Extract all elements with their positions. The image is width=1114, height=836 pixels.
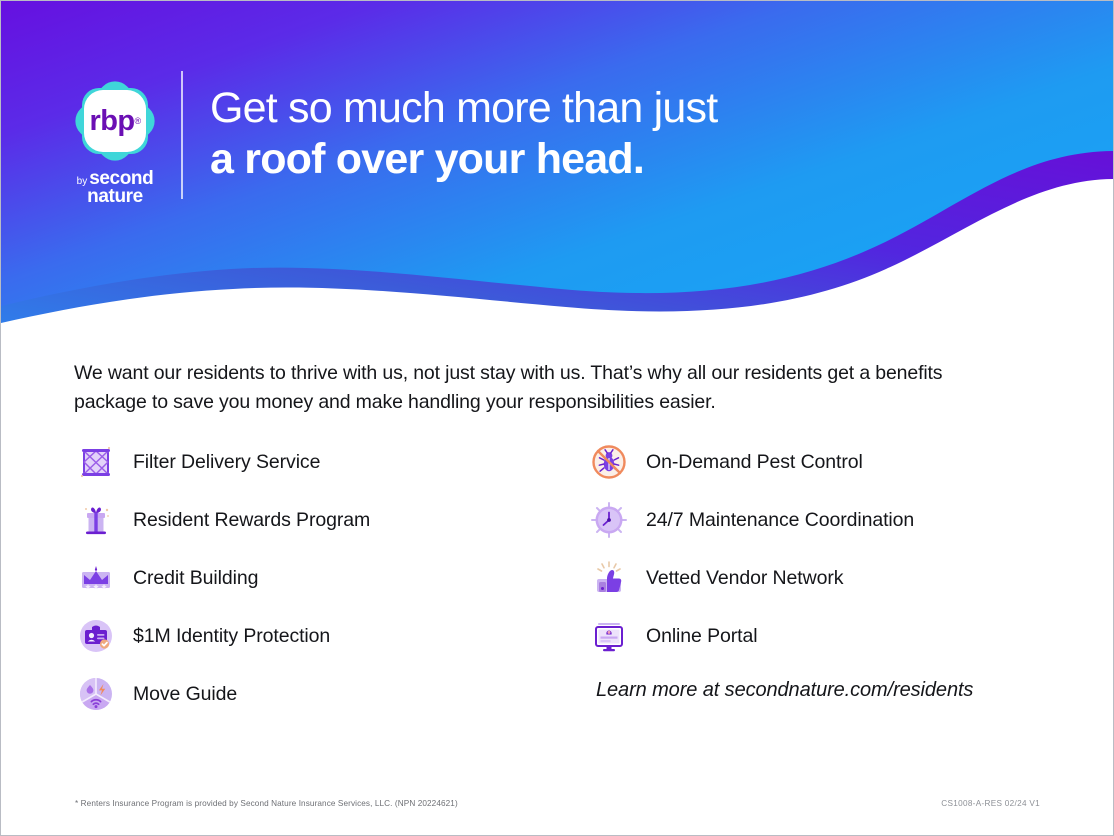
logo-wordmark: rbp® bbox=[67, 73, 163, 169]
document-code: CS1008-A-RES 02/24 V1 bbox=[941, 799, 1040, 808]
benefit-label: On-Demand Pest Control bbox=[646, 451, 863, 474]
learn-more-text: Learn more at secondnature.com/residents bbox=[596, 679, 973, 702]
benefit-label: Filter Delivery Service bbox=[133, 451, 320, 474]
benefit-maintenance-coordination: 24/7 Maintenance Coordination bbox=[587, 491, 1057, 549]
footnote-disclaimer: * Renters Insurance Program is provided … bbox=[75, 799, 458, 808]
benefit-on-demand-pest-control: On-Demand Pest Control bbox=[587, 433, 1057, 491]
benefit-label: Credit Building bbox=[133, 567, 258, 590]
benefit-label: Move Guide bbox=[133, 683, 237, 706]
benefit-label: Online Portal bbox=[646, 625, 757, 648]
benefit-online-portal: Online Portal bbox=[587, 607, 1057, 665]
benefit-label: $1M Identity Protection bbox=[133, 625, 330, 648]
benefit-label: Vetted Vendor Network bbox=[646, 567, 843, 590]
headline-line-1: Get so much more than just bbox=[210, 83, 717, 134]
clock-icon bbox=[587, 498, 631, 542]
air-filter-icon bbox=[74, 440, 118, 484]
monitor-portal-icon bbox=[587, 614, 631, 658]
benefits-left-column: Filter Delivery Service bbox=[74, 433, 554, 723]
logo-byline: bysecond nature bbox=[65, 170, 165, 206]
benefit-label: Resident Rewards Program bbox=[133, 509, 370, 532]
gift-box-icon bbox=[74, 498, 118, 542]
benefit-identity-protection: $1M Identity Protection bbox=[74, 607, 554, 665]
rbp-logo: rbp® bysecond nature bbox=[65, 73, 165, 206]
benefit-filter-delivery-service: Filter Delivery Service bbox=[74, 433, 554, 491]
utilities-circle-icon bbox=[74, 672, 118, 716]
logo-company-line2: nature bbox=[65, 188, 165, 206]
logo-by-label: by bbox=[77, 176, 88, 188]
rbp-logo-mark: rbp® bbox=[67, 73, 163, 169]
headline-line-2: a roof over your head. bbox=[210, 134, 717, 185]
flyer-page: rbp® bysecond nature Get so much more th… bbox=[0, 0, 1114, 836]
hero-banner: rbp® bysecond nature Get so much more th… bbox=[1, 1, 1114, 331]
benefit-credit-building: Credit Building bbox=[74, 549, 554, 607]
benefits-right-column: On-Demand Pest Control bbox=[587, 433, 1057, 665]
benefit-vetted-vendor-network: Vetted Vendor Network bbox=[587, 549, 1057, 607]
logo-divider bbox=[181, 71, 183, 199]
intro-paragraph: We want our residents to thrive with us,… bbox=[74, 359, 1019, 417]
logo-rbp-label: rbp bbox=[90, 105, 135, 138]
crown-stars-icon bbox=[74, 556, 118, 600]
id-badge-shield-icon bbox=[74, 614, 118, 658]
hero-headline: Get so much more than just a roof over y… bbox=[210, 83, 717, 185]
benefit-label: 24/7 Maintenance Coordination bbox=[646, 509, 914, 532]
thumbs-up-icon bbox=[587, 556, 631, 600]
logo-trademark: ® bbox=[134, 116, 140, 126]
no-pest-icon bbox=[587, 440, 631, 484]
benefit-resident-rewards-program: Resident Rewards Program bbox=[74, 491, 554, 549]
benefit-move-guide: Move Guide bbox=[74, 665, 554, 723]
